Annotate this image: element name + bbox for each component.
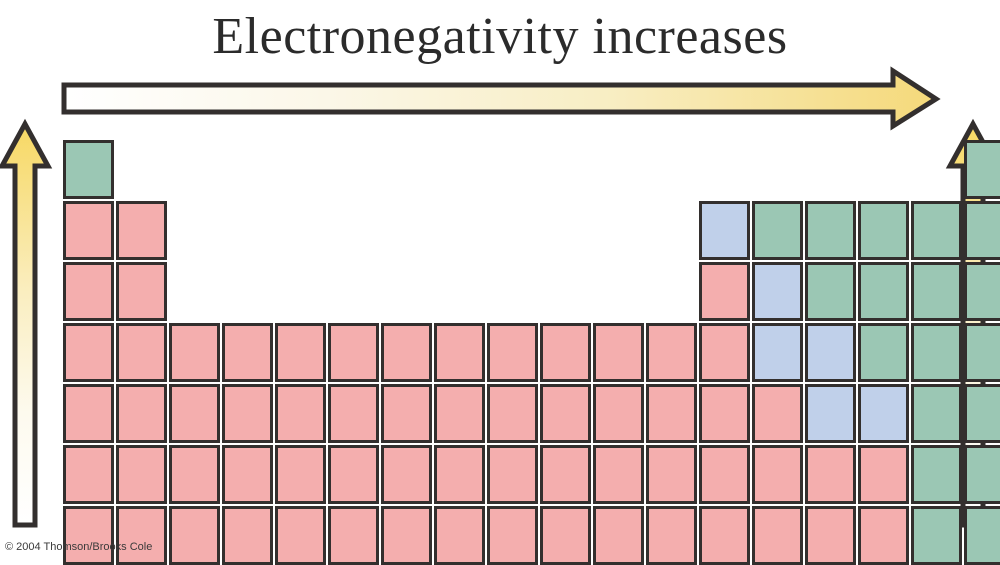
element-cell (805, 201, 856, 260)
element-cell (911, 201, 962, 260)
element-cell (752, 262, 803, 321)
element-cell (911, 323, 962, 382)
element-cell (911, 262, 962, 321)
element-cell (805, 323, 856, 382)
element-cell (805, 262, 856, 321)
element-cell (964, 445, 1000, 504)
element-cell (328, 323, 379, 382)
element-cell (752, 201, 803, 260)
element-cell (381, 506, 432, 565)
element-cell (752, 323, 803, 382)
element-cell (169, 445, 220, 504)
element-cell (646, 506, 697, 565)
element-cell (911, 445, 962, 504)
element-cell (275, 384, 326, 443)
element-cell (169, 384, 220, 443)
element-cell (63, 262, 114, 321)
element-cell (63, 323, 114, 382)
element-cell (222, 323, 273, 382)
element-cell (381, 384, 432, 443)
element-cell (434, 384, 485, 443)
diagram-canvas: Electronegativity increases © 2004 Thoms… (0, 0, 1000, 560)
element-cell (911, 506, 962, 565)
element-cell (328, 384, 379, 443)
element-cell (63, 506, 114, 565)
element-cell (752, 506, 803, 565)
element-cell (328, 445, 379, 504)
horizontal-arrow (64, 71, 936, 126)
element-cell (169, 506, 220, 565)
element-cell (381, 445, 432, 504)
element-cell (63, 201, 114, 260)
element-cell (63, 140, 114, 199)
element-cell (858, 262, 909, 321)
element-cell (222, 506, 273, 565)
element-cell (116, 323, 167, 382)
element-cell (222, 445, 273, 504)
element-cell (964, 140, 1000, 199)
element-cell (858, 384, 909, 443)
page-title: Electronegativity increases (0, 8, 1000, 65)
element-cell (593, 384, 644, 443)
element-cell (699, 323, 750, 382)
element-cell (805, 445, 856, 504)
element-cell (593, 506, 644, 565)
element-cell (964, 201, 1000, 260)
element-cell (964, 384, 1000, 443)
element-cell (805, 506, 856, 565)
element-cell (540, 323, 591, 382)
element-cell (487, 384, 538, 443)
element-cell (699, 262, 750, 321)
element-cell (911, 384, 962, 443)
element-cell (328, 506, 379, 565)
element-cell (805, 384, 856, 443)
element-cell (434, 445, 485, 504)
element-cell (116, 384, 167, 443)
element-cell (63, 445, 114, 504)
element-cell (63, 384, 114, 443)
element-cell (487, 323, 538, 382)
element-cell (858, 506, 909, 565)
element-cell (540, 384, 591, 443)
element-cell (116, 445, 167, 504)
element-cell (699, 384, 750, 443)
element-cell (434, 323, 485, 382)
element-cell (646, 323, 697, 382)
element-cell (381, 323, 432, 382)
element-cell (222, 384, 273, 443)
element-cell (699, 445, 750, 504)
element-cell (646, 445, 697, 504)
element-cell (699, 201, 750, 260)
element-cell (858, 201, 909, 260)
element-cell (275, 506, 326, 565)
element-cell (487, 506, 538, 565)
element-cell (116, 506, 167, 565)
element-cell (434, 506, 485, 565)
element-cell (540, 445, 591, 504)
element-cell (964, 506, 1000, 565)
element-cell (275, 323, 326, 382)
copyright-notice: © 2004 Thomson/Brooks Cole (5, 541, 152, 553)
element-cell (593, 445, 644, 504)
element-cell (169, 323, 220, 382)
element-cell (275, 445, 326, 504)
periodic-table-grid (63, 140, 933, 530)
element-cell (116, 262, 167, 321)
element-cell (752, 445, 803, 504)
element-cell (964, 323, 1000, 382)
element-cell (540, 506, 591, 565)
element-cell (858, 445, 909, 504)
element-cell (964, 262, 1000, 321)
element-cell (487, 445, 538, 504)
element-cell (699, 506, 750, 565)
element-cell (858, 323, 909, 382)
element-cell (593, 323, 644, 382)
left-vertical-arrow (2, 124, 48, 525)
element-cell (116, 201, 167, 260)
element-cell (752, 384, 803, 443)
element-cell (646, 384, 697, 443)
